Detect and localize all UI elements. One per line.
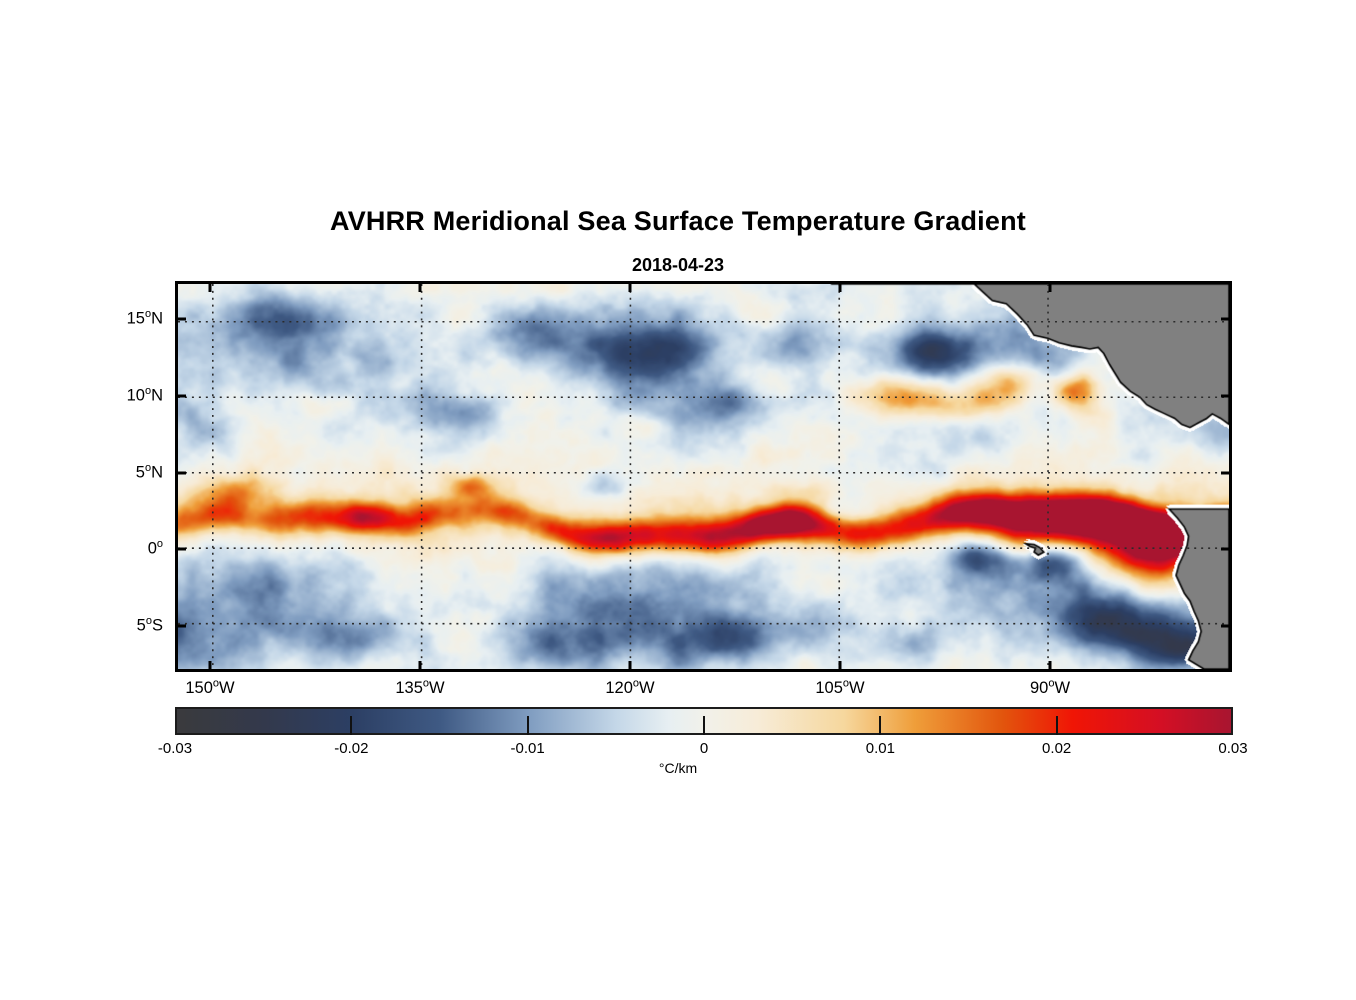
y-axis-tick-label: 5oS bbox=[0, 617, 163, 636]
x-axis-tick-mark bbox=[629, 661, 632, 672]
colorbar-tick-label: 0.01 bbox=[866, 740, 895, 757]
y-axis-tick-mark bbox=[175, 625, 186, 628]
x-axis-tick-mark bbox=[1049, 281, 1052, 292]
x-axis-tick-mark bbox=[419, 661, 422, 672]
grid-overlay bbox=[178, 284, 1229, 669]
figure-subtitle-date: 2018-04-23 bbox=[0, 255, 1356, 276]
y-axis-tick-mark bbox=[1221, 395, 1232, 398]
page-title: AVHRR Meridional Sea Surface Temperature… bbox=[0, 206, 1356, 237]
colorbar-tick-mark bbox=[879, 716, 881, 735]
colorbar-tick-mark bbox=[350, 716, 352, 735]
colorbar-tick-mark bbox=[527, 716, 529, 735]
colorbar-tick-label: 0 bbox=[700, 740, 708, 757]
colorbar-tick-mark bbox=[703, 716, 705, 735]
x-axis-tick-mark bbox=[839, 281, 842, 292]
y-axis-tick-mark bbox=[175, 471, 186, 474]
y-axis-tick-label: 0o bbox=[0, 540, 163, 559]
y-axis-tick-mark bbox=[175, 548, 186, 551]
y-axis-tick-mark bbox=[175, 318, 186, 321]
colorbar-tick-label: -0.02 bbox=[334, 740, 368, 757]
colorbar-tick-mark bbox=[1056, 716, 1058, 735]
map-plot-area[interactable] bbox=[175, 281, 1232, 672]
y-axis-tick-mark bbox=[1221, 548, 1232, 551]
x-axis-tick-mark bbox=[209, 661, 212, 672]
x-axis-tick-mark bbox=[839, 661, 842, 672]
x-axis-tick-mark bbox=[629, 281, 632, 292]
y-axis-tick-mark bbox=[1221, 471, 1232, 474]
colorbar-tick-label: -0.01 bbox=[511, 740, 545, 757]
x-axis-tick-label: 90oW bbox=[1030, 679, 1070, 698]
x-axis-tick-mark bbox=[1049, 661, 1052, 672]
colorbar-unit-label: °C/km bbox=[0, 760, 1356, 776]
y-axis-tick-label: 5oN bbox=[0, 463, 163, 482]
x-axis-tick-mark bbox=[209, 281, 212, 292]
x-axis-tick-label: 135oW bbox=[395, 679, 444, 698]
colorbar-tick-label: -0.03 bbox=[158, 740, 192, 757]
x-axis-tick-mark bbox=[419, 281, 422, 292]
y-axis-tick-label: 15oN bbox=[0, 310, 163, 329]
y-axis-tick-mark bbox=[1221, 318, 1232, 321]
x-axis-tick-label: 120oW bbox=[605, 679, 654, 698]
x-axis-tick-label: 105oW bbox=[815, 679, 864, 698]
y-axis-tick-mark bbox=[175, 395, 186, 398]
x-axis-tick-label: 150oW bbox=[185, 679, 234, 698]
colorbar-tick-label: 0.02 bbox=[1042, 740, 1071, 757]
y-axis-tick-label: 10oN bbox=[0, 387, 163, 406]
colorbar-tick-label: 0.03 bbox=[1218, 740, 1247, 757]
y-axis-tick-mark bbox=[1221, 625, 1232, 628]
